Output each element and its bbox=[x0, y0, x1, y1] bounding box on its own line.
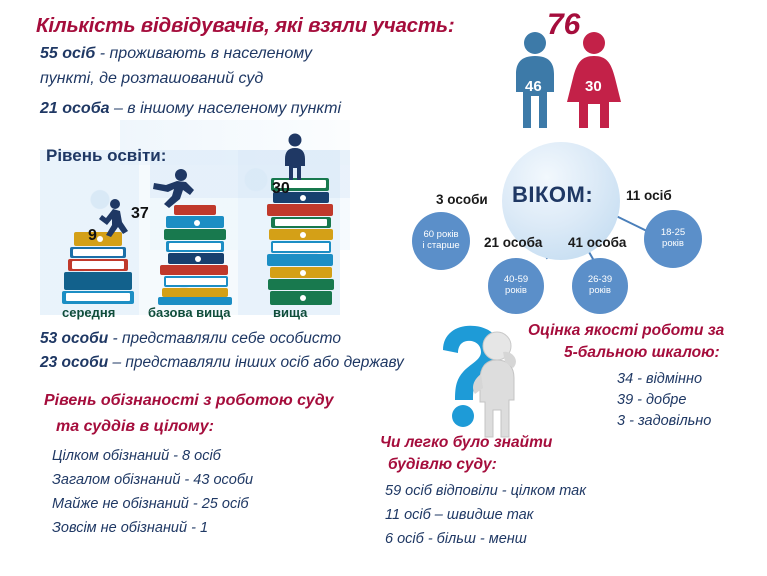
quality-row-excellent: 34 - відмінно bbox=[617, 371, 702, 387]
age-bubble-18-line2: років bbox=[662, 238, 684, 249]
age-bubble-40-line1: 40-59 bbox=[504, 274, 528, 285]
book bbox=[269, 229, 333, 240]
representation-text-23: – представляли інших осіб або державу bbox=[108, 354, 404, 371]
awareness-heading-line-1: Рівень обізнаності з роботою суду bbox=[44, 392, 333, 410]
education-heading: Рівень освіти: bbox=[46, 146, 166, 166]
age-bubble-40-line2: років bbox=[505, 285, 527, 296]
book bbox=[62, 291, 134, 304]
age-bubble-60-line1: 60 років bbox=[423, 229, 458, 240]
awareness-row-generally: Загалом обізнаний - 43 особи bbox=[52, 472, 253, 488]
book bbox=[158, 297, 232, 305]
book bbox=[166, 216, 224, 228]
representation-count-53: 53 особи bbox=[40, 330, 108, 347]
age-count-40-59: 21 особа bbox=[484, 235, 542, 250]
gender-figures-svg bbox=[503, 30, 633, 130]
residence-line-2: пункті, де розташований суд bbox=[40, 70, 263, 88]
quality-row-satisfactory: 3 - задовільно bbox=[617, 413, 711, 429]
age-bubble-26-39-text: 26-39 років bbox=[588, 275, 612, 297]
age-bubble-18-line1: 18-25 bbox=[661, 227, 685, 238]
book bbox=[64, 272, 132, 290]
gender-figures: 46 30 bbox=[503, 30, 633, 130]
residence-count-21: 21 особа bbox=[40, 100, 110, 117]
quality-heading-line-2: 5-бальною шкалою: bbox=[564, 344, 720, 362]
representation-line-1: 53 особи - представляли себе особисто bbox=[40, 330, 341, 348]
book bbox=[270, 291, 332, 305]
white-person-icon bbox=[473, 332, 516, 437]
find-building-heading-line-1: Чи легко було знайти bbox=[380, 434, 552, 452]
find-building-row-rather-yes: 11 осіб – швидше так bbox=[385, 507, 534, 523]
education-value-secondary: 9 bbox=[88, 227, 97, 245]
residence-text-21: – в іншому населеному пункті bbox=[110, 100, 342, 117]
book bbox=[160, 265, 228, 275]
book bbox=[271, 217, 331, 228]
age-bubble-60-line2: і старше bbox=[422, 240, 459, 251]
infographic-canvas: Кількість відвідувачів, які взяли участь… bbox=[0, 0, 767, 576]
book bbox=[164, 276, 228, 287]
age-bubble-60-plus: 60 років і старше bbox=[412, 212, 470, 270]
awareness-row-fully: Цілком обізнаний - 8 осіб bbox=[52, 448, 221, 464]
page-title: Кількість відвідувачів, які взяли участь… bbox=[36, 14, 455, 38]
standing-person-icon bbox=[278, 133, 312, 186]
education-value-higher: 30 bbox=[272, 180, 290, 198]
representation-count-23: 23 особи bbox=[40, 354, 108, 371]
book bbox=[267, 254, 333, 266]
awareness-row-not-at-all: Зовсім не обізнаний - 1 bbox=[52, 520, 208, 536]
residence-count-55: 55 осіб bbox=[40, 45, 95, 62]
book bbox=[270, 267, 332, 278]
age-chart: ВІКОМ: 60 років і старше 3 особи 40-59 р… bbox=[400, 140, 767, 320]
book-stack-basic-higher bbox=[158, 205, 232, 305]
representation-line-2: 23 особи – представляли інших осіб або д… bbox=[40, 354, 404, 372]
book bbox=[168, 253, 224, 264]
book bbox=[162, 288, 228, 297]
find-building-row-definitely-yes: 59 осіб відповіли - цілком так bbox=[385, 483, 586, 499]
education-label-higher: вища bbox=[273, 305, 307, 320]
age-count-18-25: 11 осіб bbox=[626, 188, 672, 203]
book bbox=[268, 279, 334, 290]
walking-person-icon bbox=[96, 198, 136, 243]
age-bubble-26-line1: 26-39 bbox=[588, 274, 612, 285]
age-bubble-26-line2: років bbox=[589, 285, 611, 296]
male-count: 46 bbox=[525, 78, 542, 95]
age-bubble-60-plus-text: 60 років і старше bbox=[422, 230, 459, 252]
age-bubble-18-25: 18-25 років bbox=[644, 210, 702, 268]
representation-text-53: - представляли себе особисто bbox=[108, 330, 341, 347]
book bbox=[68, 259, 128, 271]
book bbox=[164, 229, 226, 240]
awareness-heading-line-2: та суддів в цілому: bbox=[56, 418, 214, 436]
age-count-60-plus: 3 особи bbox=[436, 192, 488, 207]
book bbox=[166, 241, 224, 252]
age-bubble-18-25-text: 18-25 років bbox=[661, 228, 685, 250]
residence-line-1: 55 осіб - проживають в населеному bbox=[40, 45, 312, 63]
age-bubble-26-39: 26-39 років bbox=[572, 258, 628, 314]
age-count-26-39: 41 особа bbox=[568, 235, 626, 250]
quality-heading-line-1: Оцінка якості роботи за bbox=[528, 322, 724, 340]
find-building-heading-line-2: будівлю суду: bbox=[388, 456, 497, 474]
thinking-person-illustration bbox=[425, 322, 545, 440]
education-label-basic-higher: базова вища bbox=[148, 305, 231, 320]
education-value-basic-higher: 37 bbox=[131, 205, 149, 223]
find-building-row-so-so: 6 осіб - більш - менш bbox=[385, 531, 527, 547]
age-bubble-40-59-text: 40-59 років bbox=[504, 275, 528, 297]
book bbox=[267, 204, 333, 216]
residence-line-3: 21 особа – в іншому населеному пункті bbox=[40, 100, 341, 118]
book bbox=[70, 247, 126, 258]
female-count: 30 bbox=[585, 78, 602, 95]
residence-text-55: - проживають в населеному bbox=[95, 45, 312, 62]
education-label-secondary: середня bbox=[62, 305, 115, 320]
running-person-icon bbox=[150, 168, 198, 215]
awareness-row-almost-not: Майже не обізнаний - 25 осіб bbox=[52, 496, 249, 512]
age-center-label: ВІКОМ: bbox=[512, 182, 593, 208]
age-bubble-40-59: 40-59 років bbox=[488, 258, 544, 314]
quality-row-good: 39 - добре bbox=[617, 392, 686, 408]
book bbox=[271, 241, 331, 253]
